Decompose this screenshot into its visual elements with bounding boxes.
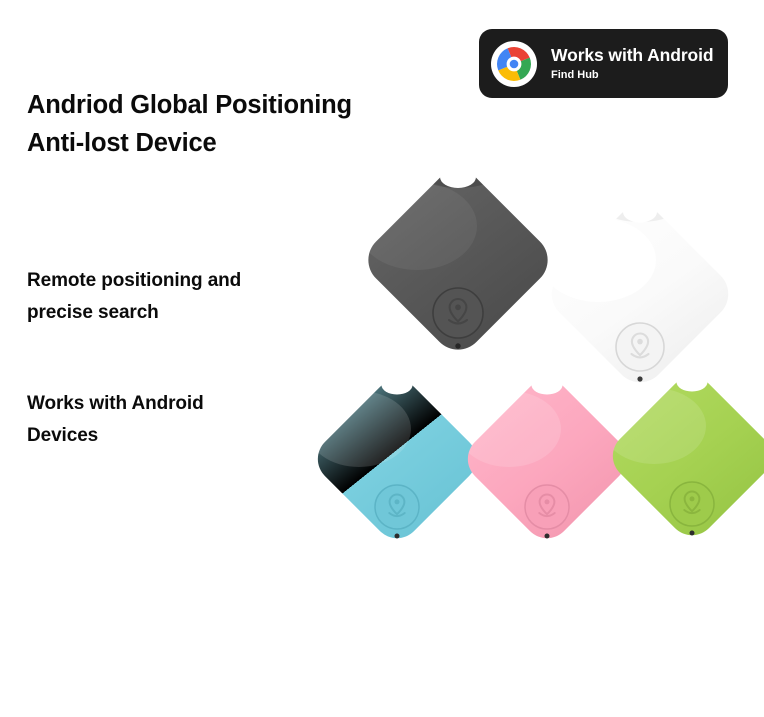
black-tracker (357, 156, 559, 360)
badge-title: Works with Android (551, 45, 714, 65)
headline-line-1: Andriod Global Positioning (27, 86, 447, 124)
badge-subtitle: Find Hub (551, 69, 714, 82)
white-tracker (540, 192, 740, 392)
white-tracker-svg (540, 192, 740, 392)
black-tracker-led (455, 343, 460, 348)
pink-tracker-led (545, 534, 550, 539)
green-tracker-led (690, 531, 695, 536)
black-tracker-svg (357, 156, 559, 360)
blue-tracker-led (395, 534, 400, 539)
feature-remote-positioning: Remote positioning and precise search (27, 265, 327, 329)
find-hub-logo (491, 41, 537, 87)
badge-text-group: Works with Android Find Hub (551, 45, 714, 82)
green-tracker-svg (602, 364, 764, 544)
feature-1-line-2: precise search (27, 297, 327, 329)
green-tracker (602, 364, 764, 544)
feature-2-line-2: Devices (27, 420, 327, 452)
page-title: Andriod Global Positioning Anti-lost Dev… (27, 86, 447, 163)
product-image-canvas: Works with Android Find Hub Andriod Glob… (0, 0, 764, 717)
find-hub-logo-icon (494, 44, 534, 84)
feature-works-with-android: Works with Android Devices (27, 388, 327, 452)
feature-2-line-1: Works with Android (27, 388, 327, 420)
works-with-android-badge: Works with Android Find Hub (479, 29, 728, 98)
feature-1-line-1: Remote positioning and (27, 265, 327, 297)
